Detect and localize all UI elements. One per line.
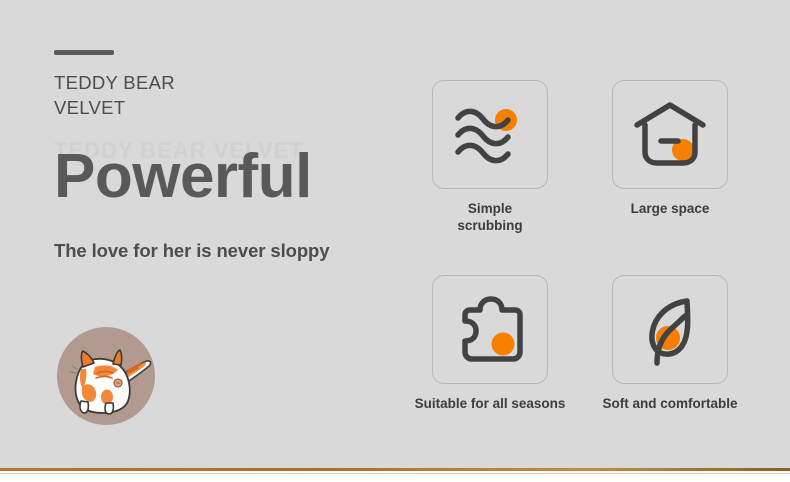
feature-label: Large space — [612, 201, 728, 218]
watermark-text: TEDDY BEAR VELVET — [54, 138, 304, 164]
accent-dash — [54, 50, 114, 55]
feature-label: Soft and comfortable — [580, 396, 760, 413]
feature-item[interactable]: Soft and comfortable — [612, 275, 728, 413]
feature-label: Suitable for all seasons — [395, 396, 585, 413]
cat-illustration-icon — [57, 327, 155, 425]
feature-label: Simple scrubbing — [432, 201, 548, 235]
leaf-icon — [635, 292, 705, 368]
cat-avatar — [57, 327, 155, 425]
feature-card[interactable] — [612, 80, 728, 189]
feature-card[interactable] — [612, 275, 728, 384]
tagline: The love for her is never sloppy — [54, 240, 434, 262]
puzzle-piece-icon — [453, 294, 527, 366]
feature-item[interactable]: Large space — [612, 80, 728, 218]
headline-block: TEDDY BEAR VELVET TEDDY BEAR VELVET Powe… — [54, 50, 434, 262]
house-wardrobe-icon — [631, 100, 709, 170]
brand-kicker: TEDDY BEAR VELVET — [54, 71, 434, 120]
feature-card[interactable] — [432, 275, 548, 384]
bottom-rule-secondary — [0, 473, 790, 474]
feature-item[interactable]: Suitable for all seasons — [432, 275, 548, 413]
promo-banner: TEDDY BEAR VELVET TEDDY BEAR VELVET Powe… — [0, 0, 790, 482]
waves-icon — [450, 102, 530, 168]
bottom-rule — [0, 468, 790, 471]
feature-card[interactable] — [432, 80, 548, 189]
feature-item[interactable]: Simple scrubbing — [432, 80, 548, 235]
